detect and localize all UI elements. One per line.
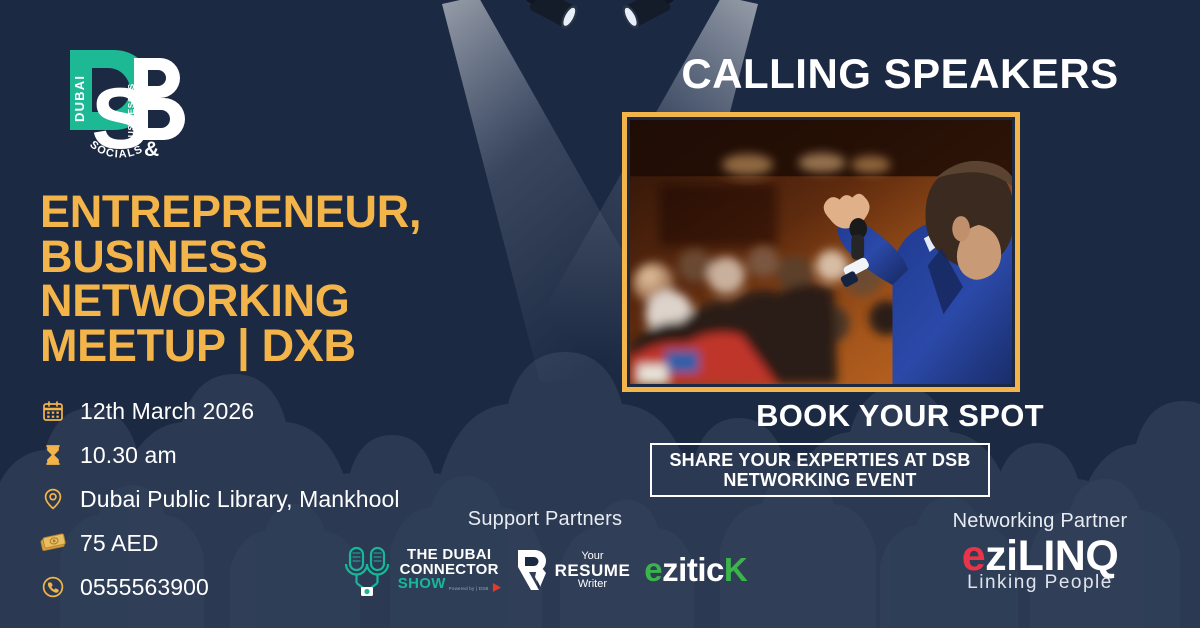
- partner-logo-ezitick[interactable]: eziticK: [644, 551, 747, 589]
- money-icon: [40, 530, 66, 556]
- partner-logo-the-dubai-connector-show[interactable]: THE DUBAI CONNECTOR SHOW Powered by | DS…: [343, 543, 501, 597]
- event-time: 10.30 am: [80, 442, 177, 469]
- share-expertise-box: SHARE YOUR EXPERTIES AT DSB NETWORKING E…: [650, 443, 990, 497]
- networking-partner-section: Networking Partner eziLINQ Linking Peopl…: [905, 510, 1175, 594]
- detail-row-time: 10.30 am: [40, 440, 560, 470]
- tdc-powered-by: Powered by | DSB: [449, 587, 489, 591]
- page-title: Entrepreneur, Business Networking Meetup…: [40, 190, 460, 368]
- dsb-logo-dubai-text: DUBAI: [72, 75, 87, 122]
- dsb-logo: S DUBAI BUSINESSES & SOCIALS: [48, 36, 198, 166]
- twin-microphones-icon: [343, 543, 393, 597]
- yrw-line-your: Your: [555, 551, 631, 562]
- event-poster: S DUBAI BUSINESSES & SOCIALS Entrepreneu…: [0, 0, 1200, 628]
- resume-pen-r-icon: [515, 547, 551, 593]
- support-partners-section: Support Partners: [330, 508, 760, 601]
- play-triangle-icon: [492, 583, 501, 592]
- partner-logo-ezilinq[interactable]: eziLINQ Linking People: [905, 535, 1175, 594]
- networking-partner-label: Networking Partner: [905, 510, 1175, 533]
- hourglass-icon: [40, 442, 66, 468]
- ezitick-k: K: [724, 551, 747, 588]
- ezilinq-tagline: Linking People: [905, 572, 1175, 594]
- tdc-line-3: SHOW: [398, 577, 446, 591]
- dsb-logo-businesses-text: BUSINESSES: [126, 83, 136, 144]
- share-expertise-text: SHARE YOUR EXPERTIES AT DSB NETWORKING E…: [660, 450, 980, 490]
- event-price: 75 AED: [80, 530, 159, 557]
- speaker-photo-frame: [622, 112, 1020, 392]
- partner-logo-your-resume-writer[interactable]: Your RESUME Writer: [515, 547, 631, 593]
- event-phone: 0555563900: [80, 574, 209, 601]
- yrw-line-writer: Writer: [555, 579, 631, 590]
- calendar-icon: [40, 398, 66, 424]
- ezitick-zitic: zitic: [662, 551, 724, 588]
- dsb-logo-ampersand: &: [144, 138, 159, 161]
- support-partners-label: Support Partners: [330, 508, 760, 531]
- yrw-line-resume: RESUME: [555, 562, 631, 579]
- ezitick-e: e: [644, 551, 662, 588]
- detail-row-date: 12th March 2026: [40, 396, 560, 426]
- event-date: 12th March 2026: [80, 398, 254, 425]
- speaker-photo: [630, 120, 1012, 384]
- calling-speakers-heading: CALLING SPEAKERS: [600, 50, 1200, 98]
- support-partner-logos: THE DUBAI CONNECTOR SHOW Powered by | DS…: [330, 539, 760, 601]
- location-pin-icon: [40, 486, 66, 512]
- book-your-spot-heading: BOOK YOUR SPOT: [600, 398, 1200, 434]
- phone-icon: [40, 574, 66, 600]
